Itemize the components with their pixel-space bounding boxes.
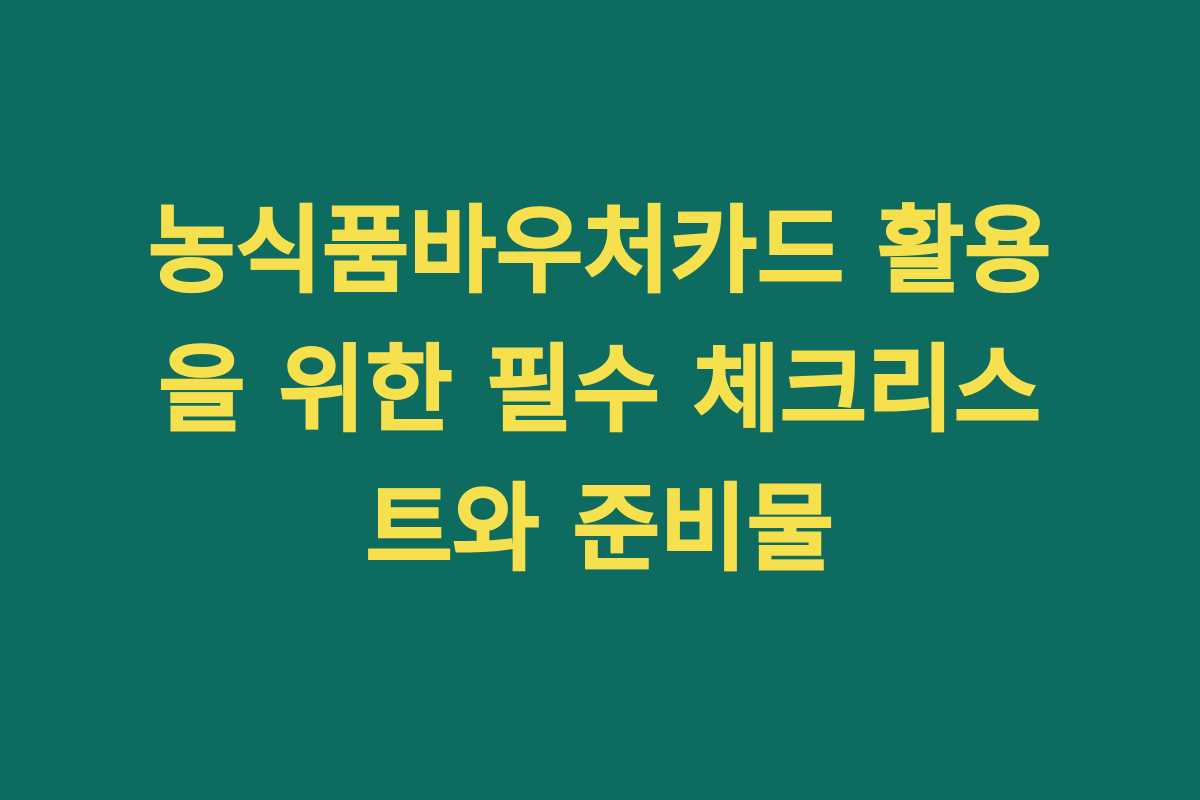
- page-title: 농식품바우처카드 활용 을 위한 필수 체크리스 트와 준비물: [115, 182, 1085, 599]
- headline-line-2: 을 위한 필수 체크리스: [115, 321, 1085, 460]
- headline-line-1: 농식품바우처카드 활용: [115, 182, 1085, 321]
- headline-block: 농식품바우처카드 활용 을 위한 필수 체크리스 트와 준비물: [95, 182, 1105, 599]
- title-card: 농식품바우처카드 활용 을 위한 필수 체크리스 트와 준비물: [0, 0, 1200, 800]
- headline-line-3: 트와 준비물: [115, 460, 1085, 599]
